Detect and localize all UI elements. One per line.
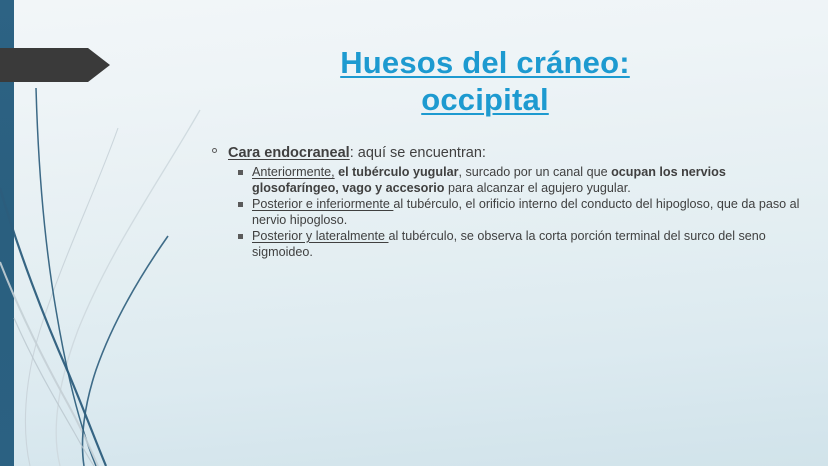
page-title: Huesos del cráneo: occipital (180, 44, 790, 118)
level1-heading: Cara endocraneal (228, 145, 350, 161)
level1-rest: : aquí se encuentran: (350, 145, 486, 161)
sub-list: Anteriormente, el tubérculo yugular, sur… (208, 165, 808, 260)
slide-canvas: Huesos del cráneo: occipital Cara endocr… (0, 0, 828, 466)
sub-item-1-plain-2: para alcanzar el agujero yugular. (444, 181, 630, 195)
body-content: Cara endocraneal: aquí se encuentran: An… (208, 144, 808, 261)
title-line-1: Huesos del cráneo: (340, 44, 630, 81)
hollow-circle-bullet-icon (212, 148, 217, 153)
sub-item-1-bold-1: el tubérculo yugular (335, 165, 459, 179)
sub-item-1-plain-1: , surcado por un canal que (458, 165, 611, 179)
list-item: Anteriormente, el tubérculo yugular, sur… (208, 165, 808, 196)
title-line-2: occipital (421, 81, 549, 118)
square-bullet-icon (238, 202, 243, 207)
square-bullet-icon (238, 170, 243, 175)
arrow-banner-shape (0, 48, 110, 82)
sub-item-3-underlined: Posterior y lateralmente (252, 229, 389, 243)
sub-item-1-underlined: Anteriormente, (252, 165, 335, 179)
square-bullet-icon (238, 234, 243, 239)
sub-item-2-underlined: Posterior e inferiormente (252, 197, 393, 211)
list-item: Cara endocraneal: aquí se encuentran: (208, 144, 808, 163)
list-item: Posterior e inferiormente al tubérculo, … (208, 197, 808, 228)
list-item: Posterior y lateralmente al tubérculo, s… (208, 229, 808, 260)
